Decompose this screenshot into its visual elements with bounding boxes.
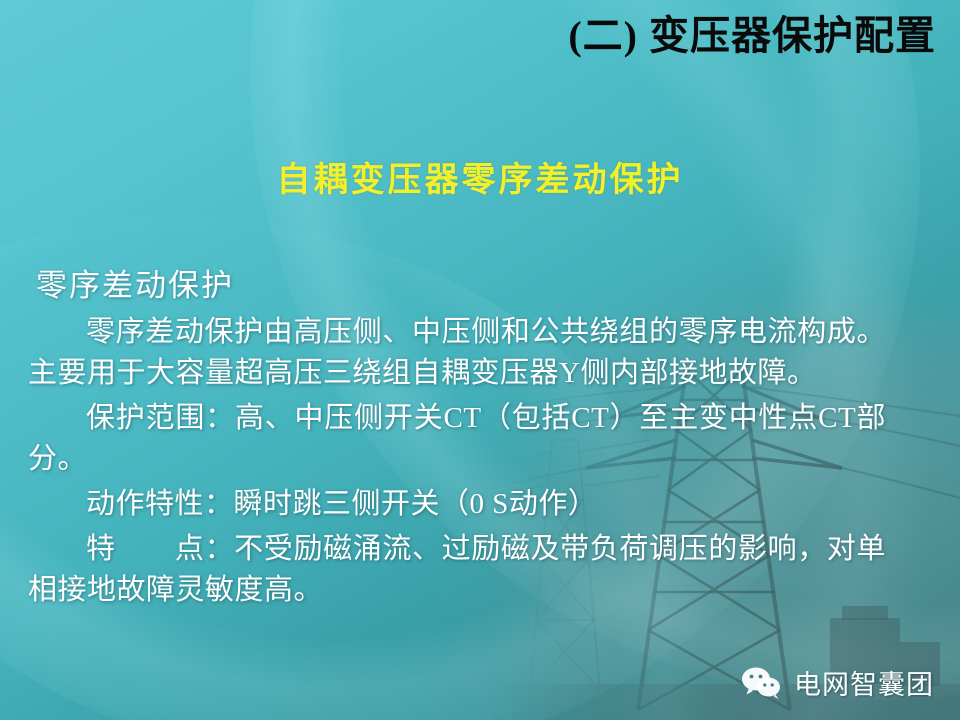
body-content: 零序差动保护由高压侧、中压侧和公共绕组的零序电流构成。主要用于大容量超高压三绕组… (28, 312, 886, 611)
wechat-icon (740, 666, 782, 700)
body-paragraph-3: 动作特性：瞬时跳三侧开关（0 S动作） (28, 484, 886, 525)
slide-subtitle: 自耦变压器零序差动保护 (0, 152, 960, 201)
watermark: 电网智囊团 (740, 663, 934, 702)
body-paragraph-1: 零序差动保护由高压侧、中压侧和公共绕组的零序电流构成。主要用于大容量超高压三绕组… (28, 312, 886, 394)
watermark-label: 电网智囊团 (794, 663, 934, 702)
section-heading: 零序差动保护 (36, 260, 234, 305)
body-paragraph-4: 特 点：不受励磁涌流、过励磁及带负荷调压的影响，对单相接地故障灵敏度高。 (28, 529, 886, 611)
presentation-slide: (二) 变压器保护配置 自耦变压器零序差动保护 零序差动保护 零序差动保护由高压… (0, 0, 960, 720)
body-paragraph-2: 保护范围：高、中压侧开关CT（包括CT）至主变中性点CT部分。 (28, 398, 886, 480)
page-title: (二) 变压器保护配置 (0, 12, 936, 60)
